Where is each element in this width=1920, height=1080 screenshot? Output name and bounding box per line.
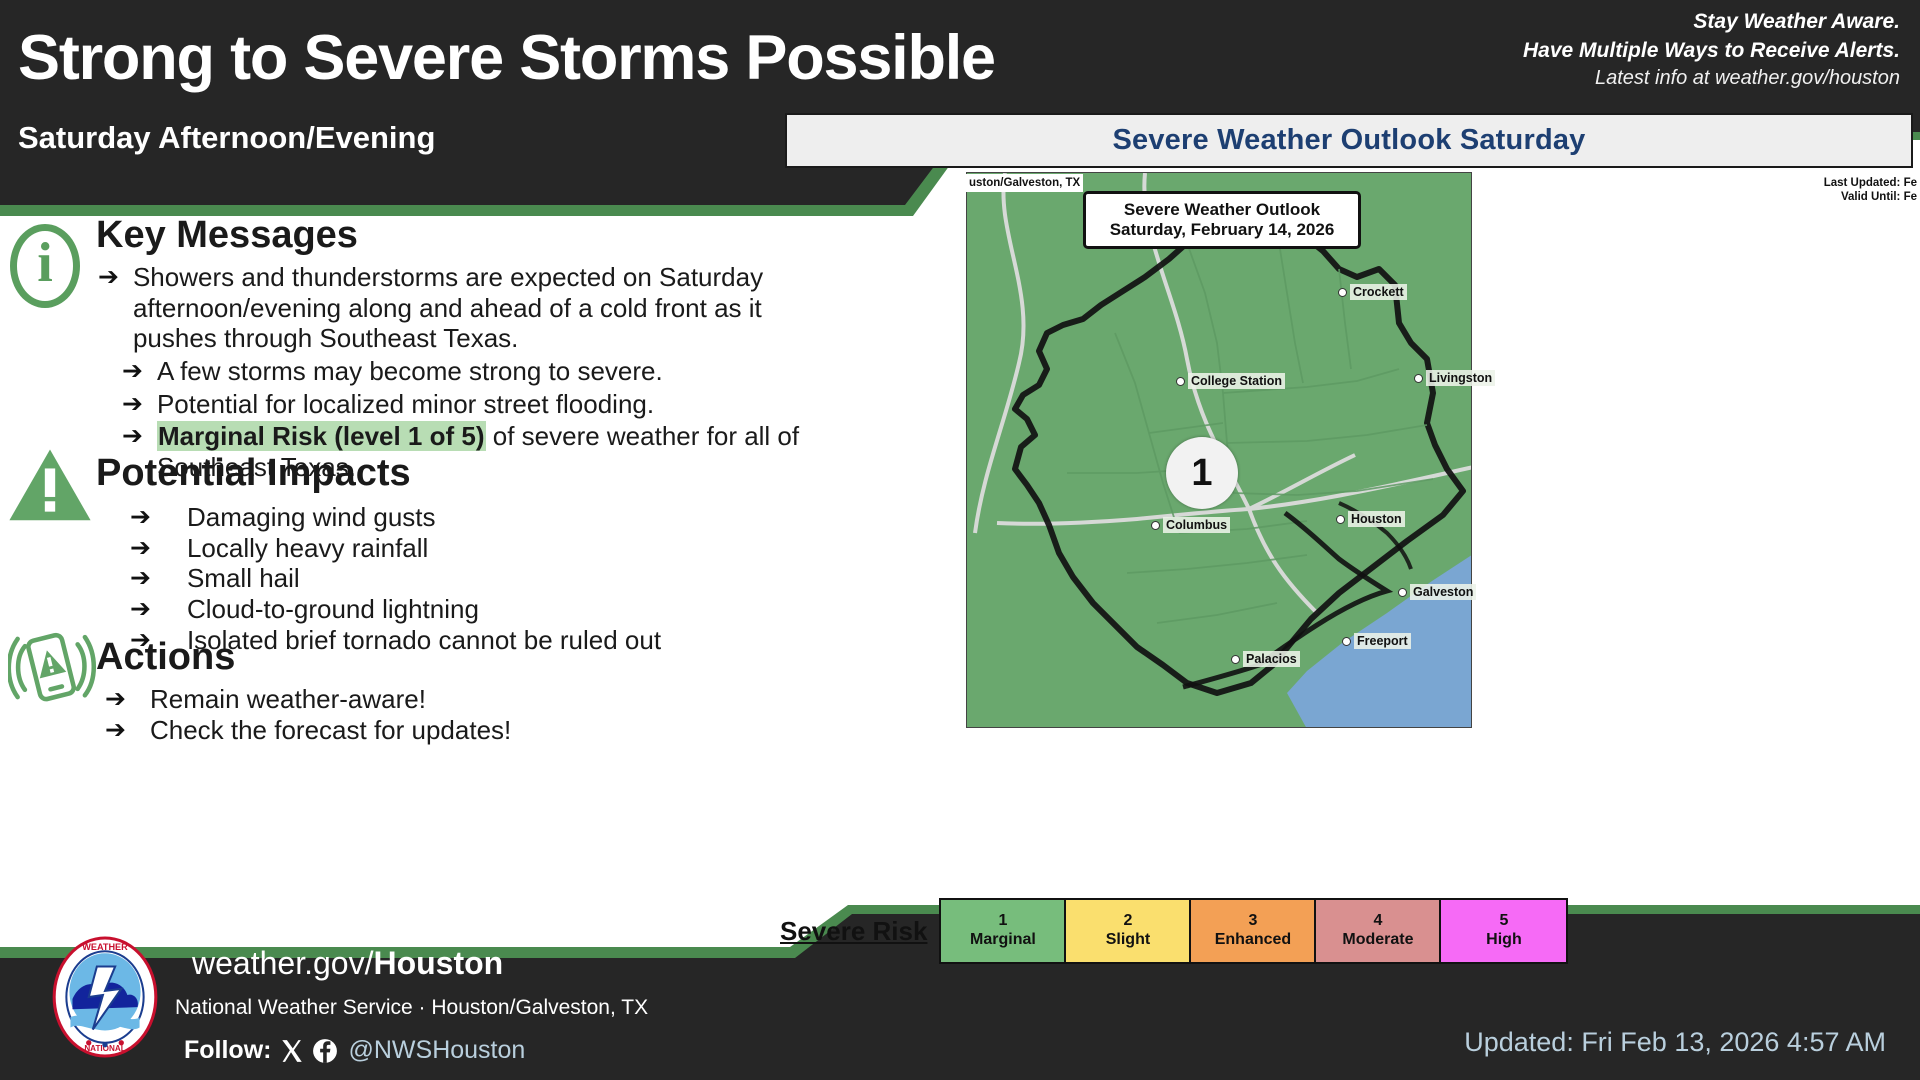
action-text: Check the forecast for updates! [150, 715, 511, 746]
impact-item: ➔ Damaging wind gusts [130, 502, 661, 533]
arrow-icon: ➔ [130, 502, 151, 532]
impact-item: ➔ Cloud-to-ground lightning [130, 594, 661, 625]
legend-cell-label: High [1486, 931, 1522, 950]
legend-cell-number: 3 [1249, 912, 1258, 931]
social-handle: @NWSHouston [348, 1036, 525, 1065]
legend-cell-number: 5 [1500, 912, 1509, 931]
arrow-icon: ➔ [130, 563, 151, 593]
map-inset-line-2: Saturday, February 14, 2026 [1110, 220, 1335, 240]
info-icon: i [10, 224, 80, 308]
key-messages-heading: Key Messages [96, 216, 358, 254]
page-title: Strong to Severe Storms Possible [18, 22, 995, 94]
key-message-text: Potential for localized minor street flo… [157, 389, 654, 420]
impact-text: Locally heavy rainfall [187, 533, 428, 564]
map-valid-until: Valid Until: Fe [1824, 190, 1917, 204]
city-name-label: Crockett [1350, 284, 1407, 300]
arrow-icon: ➔ [105, 715, 126, 745]
potential-impacts-heading: Potential Impacts [96, 454, 411, 492]
tagline-line-1: Stay Weather Aware. [1523, 8, 1900, 37]
action-text: Remain weather-aware! [150, 684, 426, 715]
footer-url-plain: weather.gov/ [192, 945, 373, 981]
legend-cell-number: 4 [1374, 912, 1383, 931]
legend-label: Severe Risk [780, 916, 927, 947]
city-dot-icon [1336, 515, 1345, 524]
marginal-risk-highlight: Marginal Risk (level 1 of 5) [157, 421, 486, 451]
city-name-label: College Station [1188, 373, 1285, 389]
key-message-text: Showers and thunderstorms are expected o… [133, 262, 823, 354]
tagline-line-3: Latest info at weather.gov/houston [1523, 65, 1900, 92]
actions-heading: Actions [96, 638, 235, 676]
map-valid-label: Last Updated: Fe Valid Until: Fe [1821, 174, 1920, 207]
legend-cell-label: Enhanced [1215, 931, 1291, 950]
city-name-label: Palacios [1243, 651, 1300, 667]
header-tagline: Stay Weather Aware. Have Multiple Ways t… [1523, 8, 1900, 92]
arrow-icon: ➔ [122, 356, 143, 386]
impact-text: Cloud-to-ground lightning [187, 594, 479, 625]
city-name-label: Galveston [1410, 584, 1476, 600]
impact-item: ➔ Small hail [130, 563, 661, 594]
legend-cell-label: Marginal [970, 931, 1036, 950]
impact-text: Isolated brief tornado cannot be ruled o… [187, 625, 661, 656]
key-message-text: A few storms may become strong to severe… [157, 356, 663, 387]
follow-label: Follow: [184, 1036, 271, 1065]
arrow-icon: ➔ [105, 684, 126, 714]
city-dot-icon [1176, 377, 1185, 386]
map-city-college-station: College Station [1176, 373, 1285, 389]
map-city-livingston: Livingston [1414, 370, 1495, 386]
severe-risk-legend: Severe Risk 1Marginal2Slight3Enhanced4Mo… [780, 898, 1568, 964]
x-twitter-icon[interactable] [279, 1038, 305, 1064]
map-city-crockett: Crockett [1338, 284, 1407, 300]
map-inset-line-1: Severe Weather Outlook [1124, 200, 1320, 220]
arrow-icon: ➔ [130, 594, 151, 624]
warning-triangle-icon [6, 446, 94, 522]
map-city-galveston: Galveston [1398, 584, 1476, 600]
risk-level-bubble: 1 [1166, 437, 1238, 509]
map-inset-title: Severe Weather Outlook Saturday, Februar… [1083, 191, 1361, 249]
city-dot-icon [1398, 588, 1407, 597]
key-message-item: ➔ Showers and thunderstorms are expected… [98, 262, 928, 354]
city-name-label: Livingston [1426, 370, 1495, 386]
content-column: i Key Messages ➔ Showers and thunderstor… [0, 210, 950, 900]
key-message-item: ➔ A few storms may become strong to seve… [122, 356, 928, 387]
impact-item: ➔ Locally heavy rainfall [130, 533, 661, 564]
legend-cell-label: Moderate [1342, 931, 1413, 950]
map-city-columbus: Columbus [1151, 517, 1230, 533]
footer-follow: Follow: @NWSHouston [184, 1036, 525, 1065]
legend-cell-enhanced: 3Enhanced [1191, 900, 1316, 962]
map-city-palacios: Palacios [1231, 651, 1300, 667]
map-city-houston: Houston [1336, 511, 1405, 527]
arrow-icon: ➔ [130, 533, 151, 563]
arrow-icon: ➔ [122, 389, 143, 419]
city-dot-icon [1342, 637, 1351, 646]
tagline-line-2: Have Multiple Ways to Receive Alerts. [1523, 37, 1900, 66]
city-name-label: Houston [1348, 511, 1405, 527]
footer-office: National Weather Service · Houston/Galve… [175, 996, 648, 1020]
legend-bar: 1Marginal2Slight3Enhanced4Moderate5High [939, 898, 1568, 964]
legend-cell-high: 5High [1441, 900, 1566, 962]
legend-cell-slight: 2Slight [1066, 900, 1191, 962]
arrow-icon: ➔ [122, 421, 143, 451]
key-message-item: ➔ Potential for localized minor street f… [122, 389, 928, 420]
facebook-icon[interactable] [312, 1038, 338, 1064]
svg-text:WEATHER: WEATHER [82, 942, 128, 952]
footer-url-bold: Houston [373, 945, 503, 981]
city-dot-icon [1231, 655, 1240, 664]
action-item: ➔ Check the forecast for updates! [105, 715, 511, 746]
city-name-label: Columbus [1163, 517, 1230, 533]
city-name-label: Freeport [1354, 633, 1411, 649]
city-dot-icon [1151, 521, 1160, 530]
legend-cell-moderate: 4Moderate [1316, 900, 1441, 962]
map-banner-text: Severe Weather Outlook Saturday [1112, 124, 1585, 157]
footer-updated-timestamp: Updated: Fri Feb 13, 2026 4:57 AM [1464, 1027, 1886, 1058]
city-dot-icon [1414, 374, 1423, 383]
map-last-updated: Last Updated: Fe [1824, 176, 1917, 190]
footer-url[interactable]: weather.gov/Houston [192, 945, 503, 982]
legend-cell-number: 2 [1124, 912, 1133, 931]
city-dot-icon [1338, 288, 1347, 297]
impact-text: Small hail [187, 563, 300, 594]
nws-logo: WEATHER NATIONAL [44, 936, 166, 1058]
legend-cell-number: 1 [999, 912, 1008, 931]
action-item: ➔ Remain weather-aware! [105, 684, 511, 715]
page-subtitle: Saturday Afternoon/Evening [18, 120, 435, 156]
arrow-icon: ➔ [98, 262, 119, 292]
map-city-freeport: Freeport [1342, 633, 1411, 649]
map-banner-title: Severe Weather Outlook Saturday [785, 113, 1913, 168]
phone-alert-icon [8, 628, 100, 708]
map-office-label: uston/Galveston, TX [966, 174, 1083, 192]
legend-cell-marginal: 1Marginal [941, 900, 1066, 962]
impact-text: Damaging wind gusts [187, 502, 436, 533]
legend-cell-label: Slight [1106, 931, 1150, 950]
